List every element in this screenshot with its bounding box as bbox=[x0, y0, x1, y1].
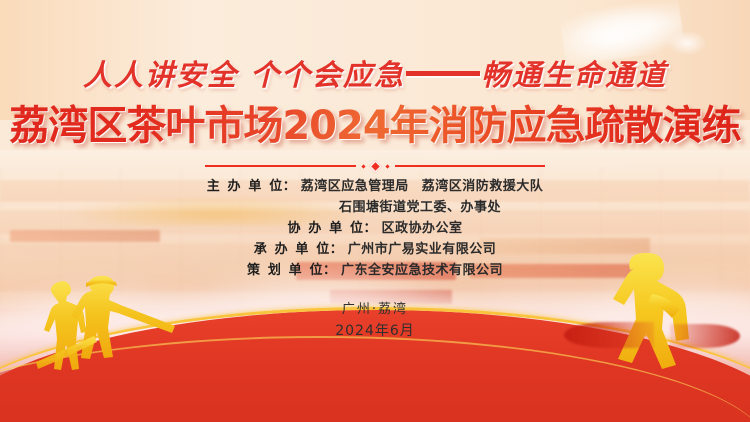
organizer-colon: ： bbox=[283, 176, 296, 197]
organizer-value: 广州市广易实业有限公司 bbox=[348, 239, 497, 260]
organizer-row-host: 主办单位：荔湾区应急管理局荔湾区消防救援大队 bbox=[0, 176, 750, 197]
divider-ornament bbox=[205, 160, 545, 172]
organizer-colon: ： bbox=[330, 239, 343, 260]
organizer-row-host-cont: 石围塘街道党工委、办事处 bbox=[0, 197, 750, 218]
organizer-row-coorganizer: 协办单位：区政协办公室 bbox=[0, 218, 750, 239]
organizer-colon: ： bbox=[363, 218, 376, 239]
organizer-value-b: 荔湾区消防救援大队 bbox=[422, 179, 544, 194]
slogan-part1: 人人讲安全 个个会应急 bbox=[83, 58, 405, 92]
organizer-value: 石围塘街道党工委、办事处 bbox=[339, 197, 501, 218]
organizer-row-undertaker: 承办单位：广州市广易实业有限公司 bbox=[0, 239, 750, 260]
poster-canvas: 荔湾区茶叶市场2024年消防应急疏散演练 人人讲安全 个个会应急畅通生命通道 荔… bbox=[0, 0, 750, 422]
organizer-label: 策划单位 bbox=[247, 260, 323, 281]
organizer-label: 主办单位 bbox=[207, 176, 283, 197]
footer-block: 广州·荔湾 2024年6月 bbox=[0, 300, 750, 342]
divider-bar-right bbox=[395, 165, 546, 167]
divider-bar-left bbox=[205, 165, 356, 167]
organizer-label: 承办单位 bbox=[254, 239, 330, 260]
footer-date: 2024年6月 bbox=[0, 320, 750, 342]
organizer-value: 区政协办公室 bbox=[382, 218, 463, 239]
slogan-line: 人人讲安全 个个会应急畅通生命通道 bbox=[0, 52, 750, 94]
footer-city: 广州·荔湾 bbox=[0, 300, 750, 320]
organizer-block: 主办单位：荔湾区应急管理局荔湾区消防救援大队 石围塘街道党工委、办事处 协办单位… bbox=[0, 176, 750, 281]
slogan-dash bbox=[406, 71, 480, 76]
organizer-value-a: 荔湾区应急管理局 bbox=[301, 179, 409, 194]
page-title: 荔湾区茶叶市场2024年消防应急疏散演练 bbox=[0, 103, 750, 149]
organizer-value: 广东全安应急技术有限公司 bbox=[341, 260, 503, 281]
slogan-part2: 畅通生命通道 bbox=[481, 58, 667, 92]
organizer-label: 协办单位 bbox=[287, 218, 363, 239]
organizer-row-planner: 策划单位：广东全安应急技术有限公司 bbox=[0, 260, 750, 281]
divider-dot bbox=[385, 164, 389, 168]
organizer-value: 荔湾区应急管理局荔湾区消防救援大队 bbox=[301, 176, 544, 197]
organizer-colon: ： bbox=[323, 260, 336, 281]
divider-diamond-icon bbox=[369, 160, 382, 173]
divider-dot bbox=[361, 164, 365, 168]
